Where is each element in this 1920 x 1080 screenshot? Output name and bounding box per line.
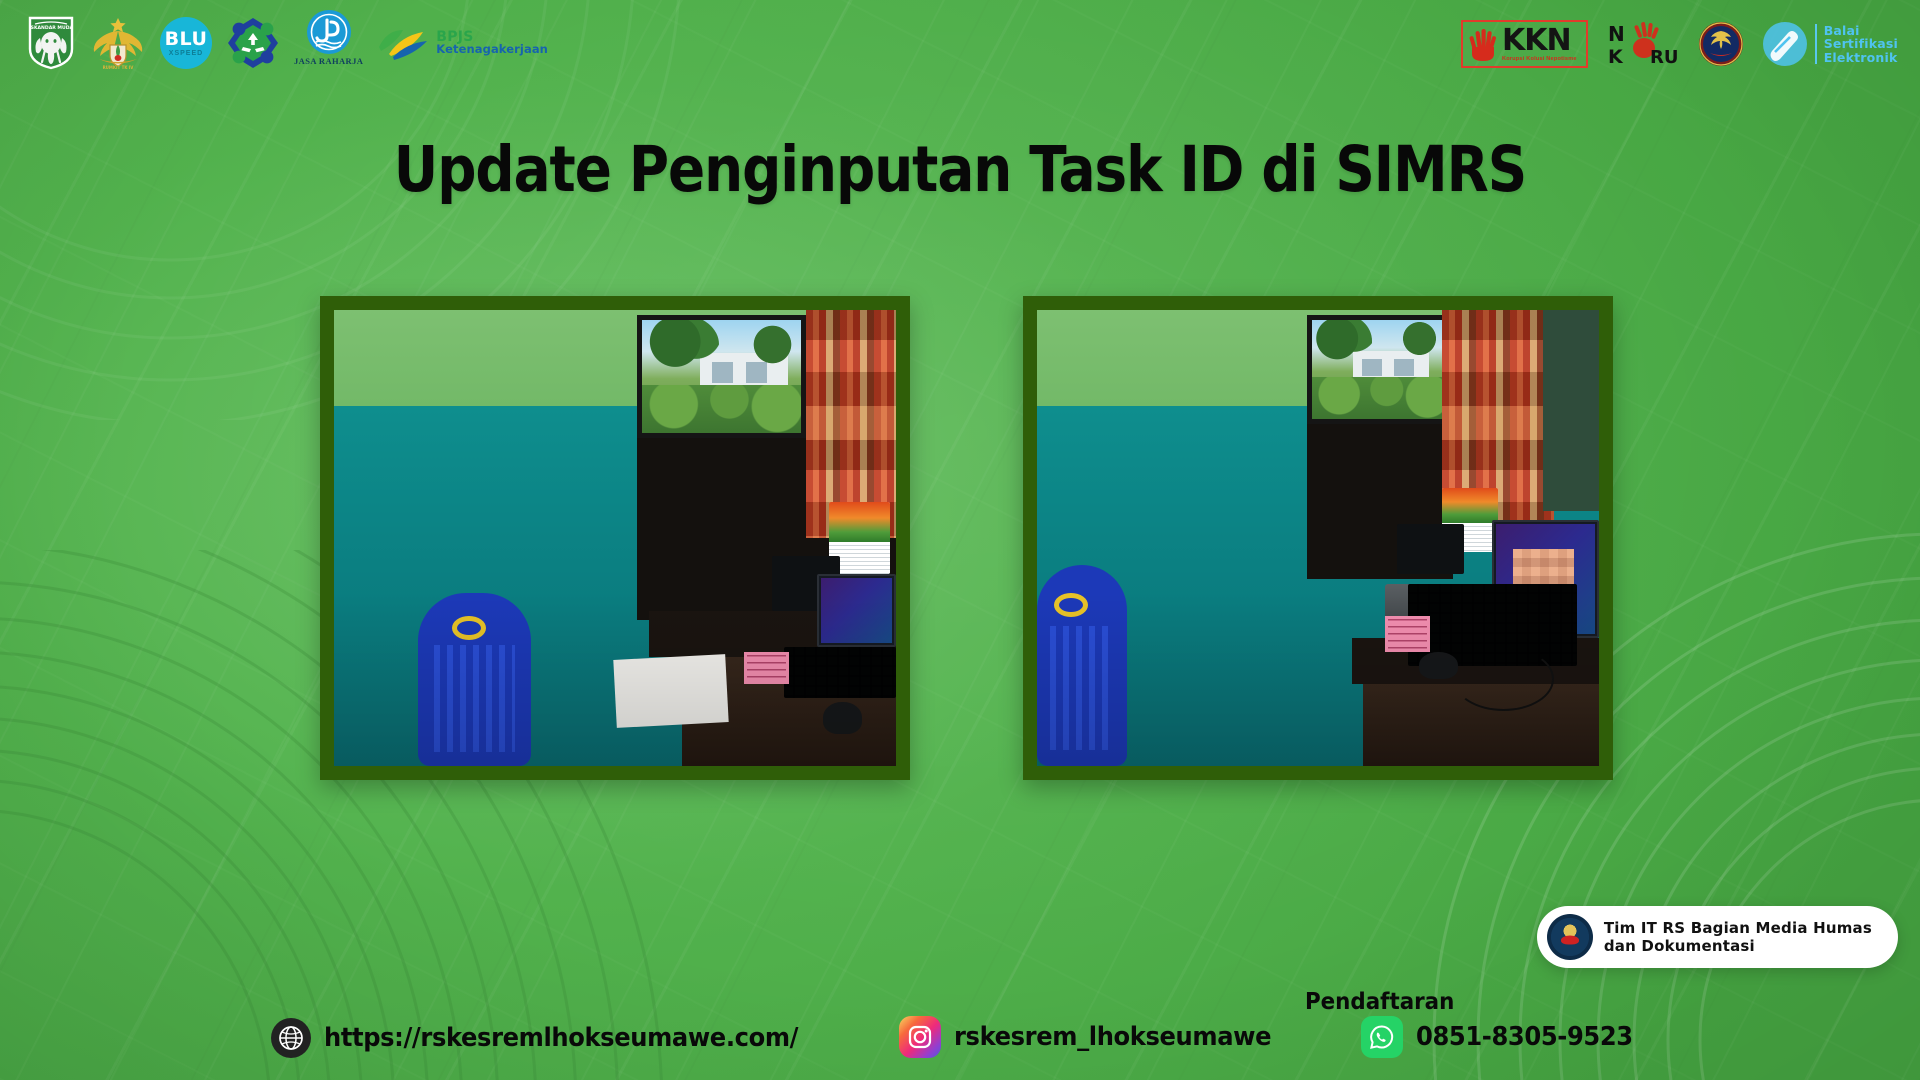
team-credit-text: Tim IT RS Bagian Media Humas dan Dokumen… (1604, 919, 1872, 955)
jasa-raharja-label: JASA RAHARJA (294, 56, 363, 66)
bpjs-mark (377, 26, 429, 60)
instagram-icon (899, 1016, 941, 1058)
photo-right (1037, 310, 1599, 766)
kementerian-emblem-icon (1698, 12, 1744, 76)
blu-logo-icon: BLU XSPEED (160, 10, 212, 76)
red-hand-icon (1469, 26, 1497, 62)
bsre-mark (1762, 21, 1808, 67)
bsre-line3: Elektronik (1824, 51, 1898, 64)
kkn-label: KKN (1502, 23, 1571, 58)
poster-canvas: ISKANDAR MUDA RUMKIT TK IV (0, 0, 1920, 1080)
team-credit-line2: dan Dokumentasi (1604, 937, 1872, 955)
team-credit-line1: Tim IT RS Bagian Media Humas (1604, 919, 1872, 937)
garuda-gold-emblem-icon: RUMKIT TK IV (90, 10, 146, 76)
globe-icon (271, 1018, 311, 1058)
svg-text:RUMKIT TK IV: RUMKIT TK IV (103, 65, 135, 70)
contact-whatsapp[interactable]: Pendaftaran 0851-8305-9523 (1361, 989, 1649, 1058)
bpjs-sublabel: Ketenagakerjaan (436, 44, 548, 56)
contact-bar: https://rskesremlhokseumawe.com/ rskesre… (0, 989, 1920, 1058)
svg-text:ISKANDAR MUDA: ISKANDAR MUDA (29, 25, 74, 31)
bsre-line2: Sertifikasi (1824, 37, 1898, 50)
kkn-sublabel: Korupsi Kolusi Nepotisme (1502, 57, 1577, 63)
bsre-text: Balai Sertifikasi Elektronik (1815, 24, 1898, 63)
website-label: https://rskesremlhokseumawe.com/ (324, 1023, 798, 1053)
photo-left (334, 310, 896, 766)
jasa-raharja-logo-icon: JASA RAHARJA (294, 10, 363, 76)
svg-text:RUPSI: RUPSI (1650, 47, 1680, 67)
whatsapp-number: 0851-8305-9523 (1416, 1022, 1633, 1052)
no-korupsi-logo-icon: N K RUPSI (1606, 21, 1680, 67)
kodam-iskandar-muda-elephant-emblem-icon: ISKANDAR MUDA (26, 10, 76, 76)
team-credit-badge: Tim IT RS Bagian Media Humas dan Dokumen… (1537, 906, 1898, 968)
instagram-label: rskesrem_lhokseumawe (954, 1022, 1271, 1052)
bpjs-ketenagakerjaan-logo-icon: BPJS Ketenagakerjaan (377, 10, 548, 76)
blu-logo-subtext: XSPEED (169, 50, 203, 57)
bpjs-text: BPJS Ketenagakerjaan (436, 30, 548, 56)
photo-left-frame (320, 296, 910, 780)
photo-right-frame (1023, 296, 1613, 780)
svg-text:N: N (1608, 22, 1625, 46)
partner-logos-left: ISKANDAR MUDA RUMKIT TK IV (26, 10, 548, 76)
page-title: Update Penginputan Task ID di SIMRS (125, 133, 1795, 206)
whatsapp-icon (1361, 1016, 1403, 1058)
rs-kesrem-emblem-icon (1547, 914, 1593, 960)
kkn-logo-icon: KKN Korupsi Kolusi Nepotisme (1461, 20, 1588, 69)
whatsapp-caption: Pendaftaran (1305, 989, 1454, 1015)
campaign-logos-right: KKN Korupsi Kolusi Nepotisme N K RUPSI (1461, 12, 1898, 76)
balai-sertifikasi-elektronik-logo-icon: Balai Sertifikasi Elektronik (1762, 21, 1898, 67)
jasa-raharja-mark (307, 10, 351, 54)
svg-text:K: K (1608, 46, 1624, 67)
contact-instagram[interactable]: rskesrem_lhokseumawe (899, 1016, 1295, 1058)
kars-accreditation-logo-icon (226, 10, 280, 76)
blu-logo-text: BLU (165, 30, 208, 49)
kkn-text: KKN Korupsi Kolusi Nepotisme (1502, 26, 1577, 63)
contact-website[interactable]: https://rskesremlhokseumawe.com/ (271, 1018, 834, 1058)
